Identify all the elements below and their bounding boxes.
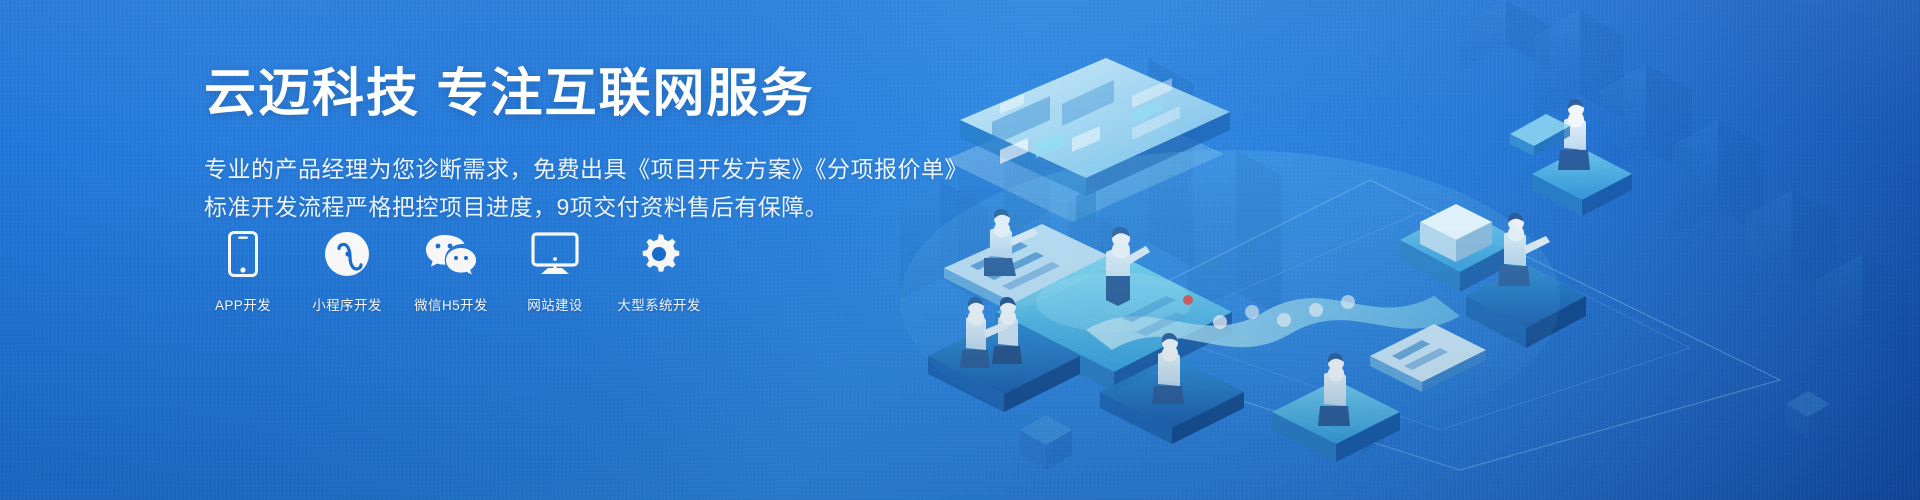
service-item-miniprogram[interactable]: 小程序开发 [308, 228, 386, 314]
floating-tag [1510, 114, 1570, 156]
service-list: APP开发 小程序开发 [204, 228, 698, 314]
wechat-icon [425, 228, 477, 280]
service-item-website[interactable]: 网站建设 [516, 228, 594, 314]
service-label-large-system: 大型系统开发 [617, 294, 700, 314]
service-label-miniprogram: 小程序开发 [312, 294, 382, 314]
gear-icon [636, 228, 682, 280]
subtitle-line-1: 专业的产品经理为您诊断需求，免费出具《项目开发方案》《分项报价单》 [204, 151, 924, 188]
page-title: 云迈科技 专注互联网服务 [204, 64, 924, 125]
subtitle-line-2: 标准开发流程严格把控项目进度，9项交付资料售后有保障。 [204, 189, 924, 226]
mobile-phone-icon [228, 228, 258, 280]
mini-program-icon [324, 228, 370, 280]
service-label-wechat-h5: 微信H5开发 [414, 294, 488, 314]
monitor-icon [531, 228, 579, 280]
service-item-wechat-h5[interactable]: 微信H5开发 [412, 228, 490, 314]
isometric-illustration [900, 0, 1920, 500]
hero-banner: 云迈科技 专注互联网服务 专业的产品经理为您诊断需求，免费出具《项目开发方案》《… [0, 0, 1920, 500]
service-item-app[interactable]: APP开发 [204, 228, 282, 314]
banner-copy: 云迈科技 专注互联网服务 专业的产品经理为您诊断需求，免费出具《项目开发方案》《… [204, 64, 924, 226]
service-label-app: APP开发 [215, 294, 271, 314]
service-item-large-system[interactable]: 大型系统开发 [620, 228, 698, 314]
service-label-website: 网站建设 [527, 294, 583, 314]
